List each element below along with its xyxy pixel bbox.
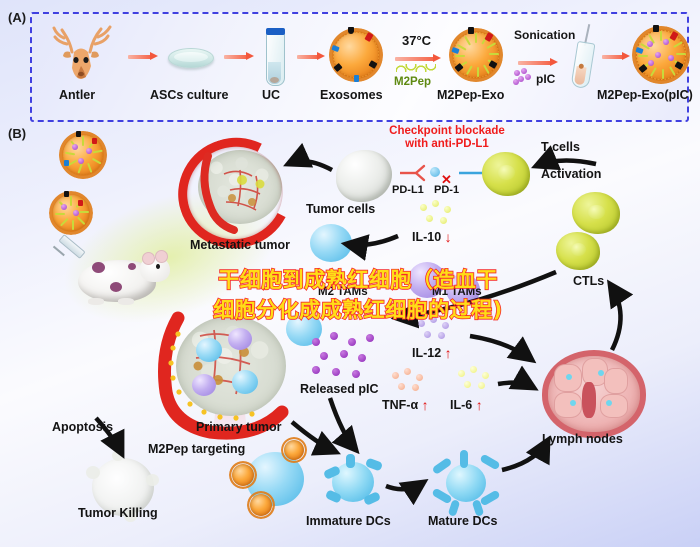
petri-dish-icon: [165, 42, 217, 72]
pd-1-ligand-dot: [430, 167, 440, 177]
ctl-cell-1: [572, 192, 620, 234]
pd-l1-label: PD-L1: [392, 184, 424, 196]
exosome-peptide-icon: [452, 31, 500, 79]
panel-a-caption-antler: Antler: [59, 88, 95, 102]
il-6-label: IL-6 ↑: [450, 396, 483, 412]
overlay-line-2: 细胞分化成成熟红细胞的过程): [213, 298, 503, 322]
il-12-text: IL-12: [412, 346, 441, 360]
il-6-arrow-icon: ↑: [476, 397, 483, 413]
il-10-arrow-icon: ↓: [445, 229, 452, 245]
tumor-killing-label: Tumor Killing: [78, 506, 158, 520]
process-arrow-3: [297, 52, 325, 61]
t-cell-1: [482, 152, 530, 196]
chinese-overlay-watermark: 干细胞到成熟红细胞（造血干 细胞分化成成熟红细胞的过程): [178, 265, 538, 325]
scientific-figure: (A) Antler: [0, 0, 700, 547]
checkpoint-blockade-title: Checkpoint blockade with anti-PD-L1: [372, 125, 522, 151]
il-10-text: IL-10: [412, 230, 441, 244]
pd-1-label: PD-1: [434, 184, 459, 196]
tnf-alpha-arrow-icon: ↑: [422, 397, 429, 413]
centrifuge-tube-icon: [264, 26, 288, 86]
panel-a-caption-m2pep-exo-pic: M2Pep-Exo(pIC): [597, 88, 693, 102]
tnf-alpha-label: TNF-α ↑: [382, 396, 429, 412]
tnf-alpha-text: TNF-α: [382, 398, 418, 412]
tumor-cell-1: [336, 150, 392, 202]
checkpoint-line1: Checkpoint blockade: [389, 125, 505, 137]
overlay-line-1: 干细胞到成熟红细胞（造血干: [218, 268, 498, 292]
m2pep-targeting-label: M2Pep targeting: [148, 442, 245, 456]
m2-tam-cell-1: [310, 224, 352, 262]
process-arrow-2: [224, 52, 254, 61]
exosome-icon: [332, 31, 380, 79]
m2pep-label: M2Pep: [394, 76, 431, 88]
primary-tumor-label: Primary tumor: [196, 420, 281, 434]
immature-dc-cell: [322, 454, 384, 512]
il-10-label: IL-10 ↓: [412, 228, 452, 244]
mature-dc-cell: [432, 452, 500, 514]
m2pep-squiggle-icon: [396, 64, 436, 72]
ctls-label: CTLs: [573, 274, 604, 288]
process-arrow-4: [395, 54, 441, 63]
exosome-loaded-icon: [635, 29, 687, 81]
panel-a-tag: (A): [8, 10, 26, 25]
panel-b-container: Metastatic tumor Tumor cells Checkpoint …: [0, 122, 700, 547]
pic-label: pIC: [536, 72, 555, 86]
nanoparticle-2: [52, 194, 90, 232]
deer-icon: [50, 22, 124, 84]
immature-dcs-label: Immature DCs: [306, 514, 391, 528]
checkpoint-line2: with anti-PD-L1: [405, 138, 489, 150]
activation-label: Activation: [541, 167, 601, 181]
process-arrow-6: [602, 52, 630, 61]
temperature-label: 37°C: [402, 33, 431, 48]
sonication-tube-icon: [568, 28, 602, 88]
process-arrow-1: [128, 52, 158, 61]
panel-a-caption-exosomes: Exosomes: [320, 88, 383, 102]
apoptosis-label: Apoptosis: [52, 420, 113, 434]
panel-a-caption-ascs: ASCs culture: [150, 88, 229, 102]
process-arrow-5: [518, 58, 558, 67]
il-12-arrow-icon: ↑: [445, 345, 452, 361]
metastatic-tumor-label: Metastatic tumor: [190, 238, 290, 252]
panel-a-caption-m2pep-exo: M2Pep-Exo: [437, 88, 504, 102]
panel-a-container: Antler ASCs culture UC: [30, 12, 689, 122]
nanoparticle-1: [62, 134, 104, 176]
tumor-cells-label: Tumor cells: [306, 202, 375, 216]
il-6-text: IL-6: [450, 398, 472, 412]
ctl-cell-2: [556, 232, 600, 270]
released-pic-label: Released pIC: [300, 382, 379, 396]
t-cells-label: T cells: [541, 140, 580, 154]
sonication-label: Sonication: [514, 28, 575, 42]
panel-a-caption-uc: UC: [262, 88, 280, 102]
il-12-label: IL-12 ↑: [412, 344, 452, 360]
mature-dcs-label: Mature DCs: [428, 514, 497, 528]
lymph-nodes-label: Lymph nodes: [542, 432, 623, 446]
